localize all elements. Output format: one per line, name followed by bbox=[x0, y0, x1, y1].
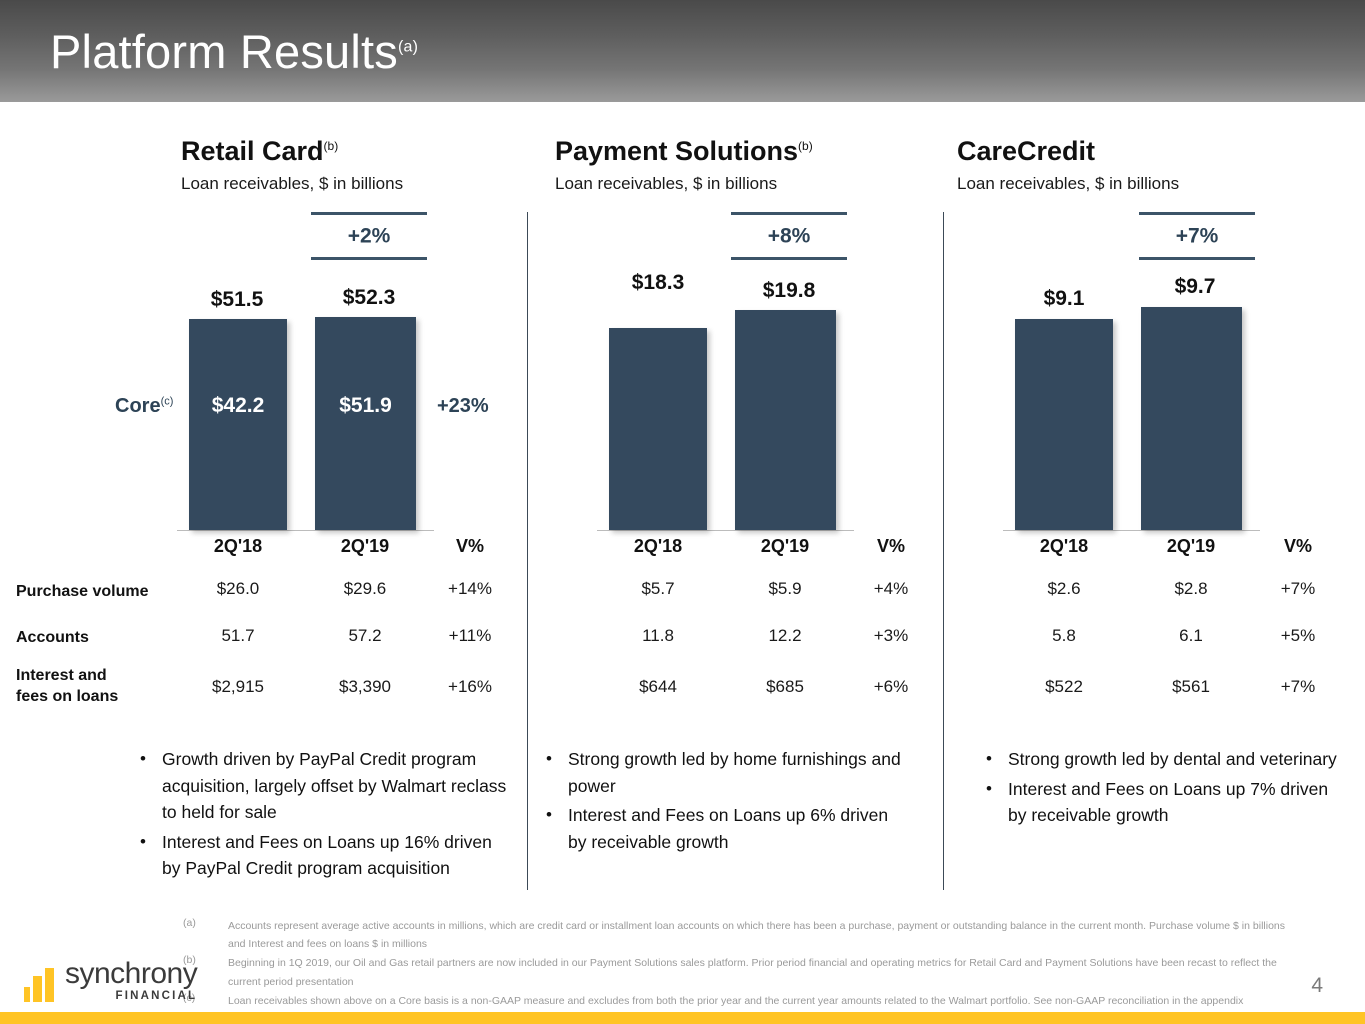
bar-payment-solutions-2q19 bbox=[735, 310, 836, 530]
growth-callout-carecredit: +7% bbox=[1139, 212, 1255, 260]
bullet-dot-icon: • bbox=[986, 746, 992, 772]
section-subtitle-carecredit: Loan receivables, $ in billions bbox=[957, 175, 1179, 192]
page-title-text: Platform Results bbox=[50, 25, 398, 78]
list-item: • Interest and Fees on Loans up 6% drive… bbox=[530, 802, 910, 855]
section-title-footnote-marker: (b) bbox=[798, 139, 813, 153]
slide-header-banner: Platform Results(a) bbox=[0, 0, 1365, 102]
table-header-vpct: V% bbox=[430, 537, 510, 555]
column-divider-left bbox=[527, 212, 528, 890]
callout-growth-pct: +7% bbox=[1139, 226, 1255, 247]
core-label: Core(c) bbox=[115, 396, 173, 416]
table-cell: +7% bbox=[1258, 678, 1338, 695]
column-divider-right bbox=[943, 212, 944, 890]
bullet-text: Interest and Fees on Loans up 16% driven… bbox=[162, 832, 492, 879]
callout-rule-top bbox=[1139, 212, 1255, 215]
bullet-dot-icon: • bbox=[546, 746, 552, 772]
callout-rule-bottom bbox=[311, 257, 427, 260]
table-cell: $5.7 bbox=[605, 580, 711, 597]
footnotes-block: (a) Accounts represent average active ac… bbox=[183, 916, 1298, 1010]
list-item: • Growth driven by PayPal Credit program… bbox=[124, 746, 514, 826]
section-subtitle-retail-card: Loan receivables, $ in billions bbox=[181, 175, 403, 192]
list-item: • Interest and Fees on Loans up 16% driv… bbox=[124, 829, 514, 882]
footnote-a: (a) Accounts represent average active ac… bbox=[183, 916, 1298, 952]
bullet-dot-icon: • bbox=[986, 776, 992, 802]
footnote-marker: (a) bbox=[183, 916, 196, 931]
table-cell: +7% bbox=[1258, 580, 1338, 597]
section-title-carecredit: CareCredit bbox=[957, 138, 1095, 165]
core-footnote-marker: (c) bbox=[161, 395, 174, 407]
section-title-text: Retail Card bbox=[181, 136, 324, 166]
table-cell: +11% bbox=[430, 627, 510, 644]
section-title-text: Payment Solutions bbox=[555, 136, 798, 166]
table-cell: $522 bbox=[1011, 678, 1117, 695]
logo-wordmark: synchrony FINANCIAL bbox=[65, 959, 197, 1003]
growth-callout-retail-card: +2% bbox=[311, 212, 427, 260]
page-number: 4 bbox=[1311, 975, 1323, 996]
section-title-payment-solutions: Payment Solutions(b) bbox=[555, 138, 813, 165]
list-item: • Interest and Fees on Loans up 7% drive… bbox=[970, 776, 1345, 829]
table-row-label: Purchase volume bbox=[16, 581, 181, 602]
table-cell: $2.8 bbox=[1138, 580, 1244, 597]
table-cell: $685 bbox=[732, 678, 838, 695]
table-cell: $2.6 bbox=[1011, 580, 1117, 597]
footnote-text: Accounts represent average active accoun… bbox=[228, 920, 1285, 950]
table-cell: +3% bbox=[851, 627, 931, 644]
table-cell: 57.2 bbox=[312, 627, 418, 644]
callout-growth-pct: +8% bbox=[731, 226, 847, 247]
section-title-retail-card: Retail Card(b) bbox=[181, 138, 338, 165]
bar-inner-label-2q19: $51.9 bbox=[315, 395, 416, 416]
bullet-dot-icon: • bbox=[140, 829, 146, 855]
slide-root: Platform Results(a) Retail Card(b) Loan … bbox=[0, 0, 1365, 1024]
bar-retail-card-2q19 bbox=[315, 317, 416, 530]
list-item: • Strong growth led by dental and veteri… bbox=[970, 746, 1345, 773]
page-title-footnote-marker: (a) bbox=[398, 38, 418, 55]
callout-rule-top bbox=[731, 212, 847, 215]
table-header-2q18: 2Q'18 bbox=[185, 537, 291, 555]
footnote-c: (c) Loan receivables shown above on a Co… bbox=[183, 991, 1298, 1009]
table-cell: 12.2 bbox=[732, 627, 838, 644]
callout-rule-bottom bbox=[1139, 257, 1255, 260]
page-title: Platform Results(a) bbox=[50, 28, 418, 75]
callout-rule-bottom bbox=[731, 257, 847, 260]
logo-subtitle: FINANCIAL bbox=[65, 991, 197, 1003]
table-cell: $2,915 bbox=[185, 678, 291, 695]
table-cell: 11.8 bbox=[605, 627, 711, 644]
core-variance-pct: +23% bbox=[437, 396, 489, 416]
chart-axis-line bbox=[177, 530, 434, 531]
table-cell: +6% bbox=[851, 678, 931, 695]
table-cell: $561 bbox=[1138, 678, 1244, 695]
synchrony-bars-icon bbox=[24, 968, 58, 1002]
section-title-text: CareCredit bbox=[957, 136, 1095, 166]
table-row-label: Accounts bbox=[16, 627, 181, 648]
section-subtitle-payment-solutions: Loan receivables, $ in billions bbox=[555, 175, 777, 192]
bar-carecredit-2q18 bbox=[1015, 319, 1113, 530]
bullet-dot-icon: • bbox=[140, 746, 146, 772]
table-header-2q19: 2Q'19 bbox=[312, 537, 418, 555]
callout-rule-top bbox=[311, 212, 427, 215]
bar-top-label-2q18: $51.5 bbox=[183, 289, 291, 310]
synchrony-financial-logo: synchrony FINANCIAL bbox=[24, 959, 197, 1003]
bullet-text: Interest and Fees on Loans up 7% driven … bbox=[1008, 779, 1328, 826]
bar-top-label-2q18: $18.3 bbox=[604, 272, 712, 293]
footnote-text: Loan receivables shown above on a Core b… bbox=[228, 995, 1243, 1007]
table-header-vpct: V% bbox=[851, 537, 931, 555]
bullet-text: Strong growth led by dental and veterina… bbox=[1008, 749, 1337, 769]
section-title-footnote-marker: (b) bbox=[324, 139, 339, 153]
table-header-2q18: 2Q'18 bbox=[605, 537, 711, 555]
footnote-text: Beginning in 1Q 2019, our Oil and Gas re… bbox=[228, 957, 1277, 987]
bar-retail-card-2q18 bbox=[189, 319, 287, 530]
table-cell: 6.1 bbox=[1138, 627, 1244, 644]
table-cell: +16% bbox=[430, 678, 510, 695]
callout-growth-pct: +2% bbox=[311, 226, 427, 247]
table-cell: +4% bbox=[851, 580, 931, 597]
core-label-text: Core bbox=[115, 395, 161, 417]
table-cell: 5.8 bbox=[1011, 627, 1117, 644]
footer-accent-bar bbox=[0, 1012, 1365, 1024]
list-item: • Strong growth led by home furnishings … bbox=[530, 746, 910, 799]
bullet-list-payment-solutions: • Strong growth led by home furnishings … bbox=[530, 746, 910, 858]
table-cell: $29.6 bbox=[312, 580, 418, 597]
bar-top-label-2q19: $52.3 bbox=[314, 287, 424, 308]
footnote-b: (b) Beginning in 1Q 2019, our Oil and Ga… bbox=[183, 953, 1298, 989]
bullet-list-retail-card: • Growth driven by PayPal Credit program… bbox=[124, 746, 514, 885]
table-header-2q19: 2Q'19 bbox=[732, 537, 838, 555]
table-cell: $5.9 bbox=[732, 580, 838, 597]
table-cell: 51.7 bbox=[185, 627, 291, 644]
bar-carecredit-2q19 bbox=[1141, 307, 1242, 530]
bullet-text: Growth driven by PayPal Credit program a… bbox=[162, 749, 506, 822]
bullet-dot-icon: • bbox=[546, 802, 552, 828]
bar-inner-label-2q18: $42.2 bbox=[189, 395, 287, 416]
bar-payment-solutions-2q18 bbox=[609, 328, 707, 530]
chart-axis-line bbox=[597, 530, 854, 531]
table-row-label: Interest and fees on loans bbox=[16, 665, 181, 707]
bar-top-label-2q19: $19.8 bbox=[734, 280, 844, 301]
bar-top-label-2q19: $9.7 bbox=[1140, 276, 1250, 297]
table-cell: $3,390 bbox=[312, 678, 418, 695]
table-cell: $26.0 bbox=[185, 580, 291, 597]
bullet-text: Interest and Fees on Loans up 6% driven … bbox=[568, 805, 888, 852]
table-header-2q18: 2Q'18 bbox=[1011, 537, 1117, 555]
bullet-list-carecredit: • Strong growth led by dental and veteri… bbox=[970, 746, 1345, 832]
growth-callout-payment-solutions: +8% bbox=[731, 212, 847, 260]
table-cell: +5% bbox=[1258, 627, 1338, 644]
table-header-2q19: 2Q'19 bbox=[1138, 537, 1244, 555]
chart-axis-line bbox=[1003, 530, 1260, 531]
bar-top-label-2q18: $9.1 bbox=[1010, 288, 1118, 309]
table-header-vpct: V% bbox=[1258, 537, 1338, 555]
table-cell: +14% bbox=[430, 580, 510, 597]
table-cell: $644 bbox=[605, 678, 711, 695]
logo-word: synchrony bbox=[65, 959, 197, 989]
bullet-text: Strong growth led by home furnishings an… bbox=[568, 749, 901, 796]
